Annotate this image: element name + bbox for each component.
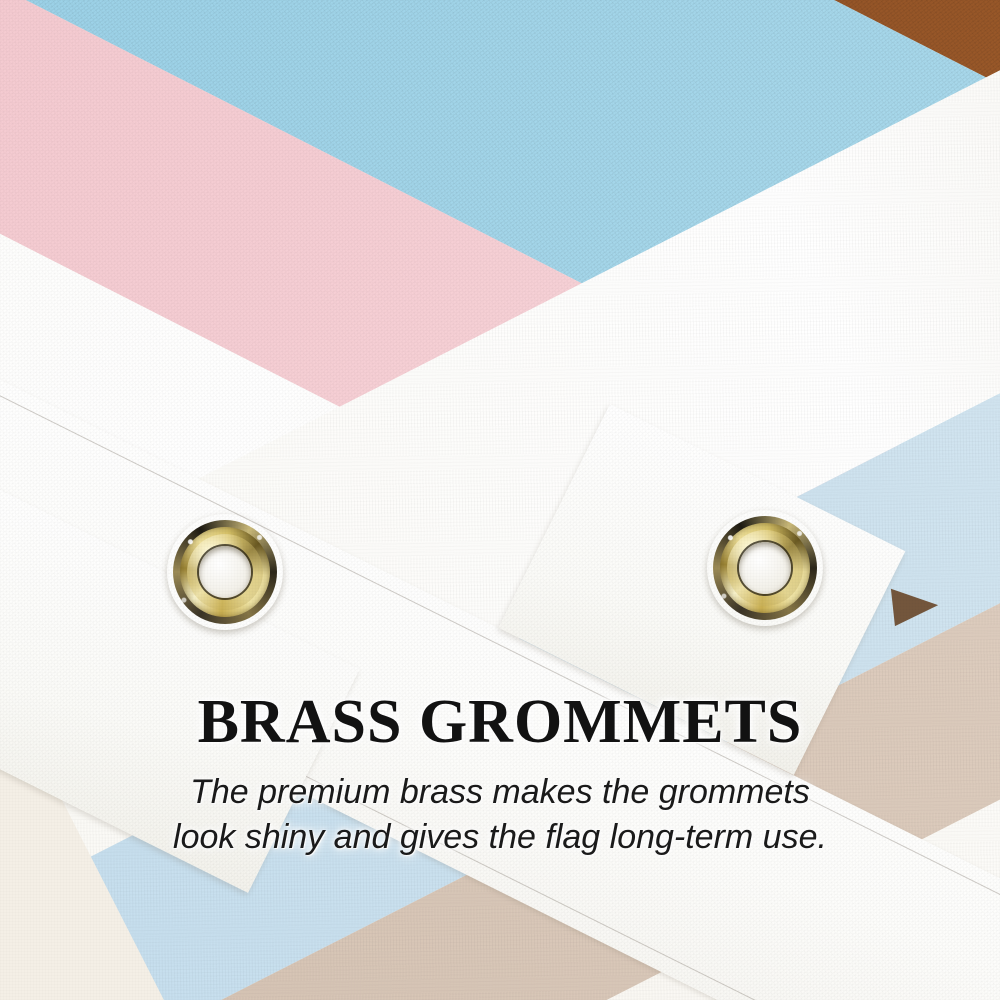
- grommet-right: [713, 516, 817, 620]
- grommet-sparkle: [171, 518, 279, 626]
- grommet-sparkle: [711, 514, 819, 622]
- product-detail-image: BRASS GROMMETS The premium brass makes t…: [0, 0, 1000, 1000]
- grommet-left: [173, 520, 277, 624]
